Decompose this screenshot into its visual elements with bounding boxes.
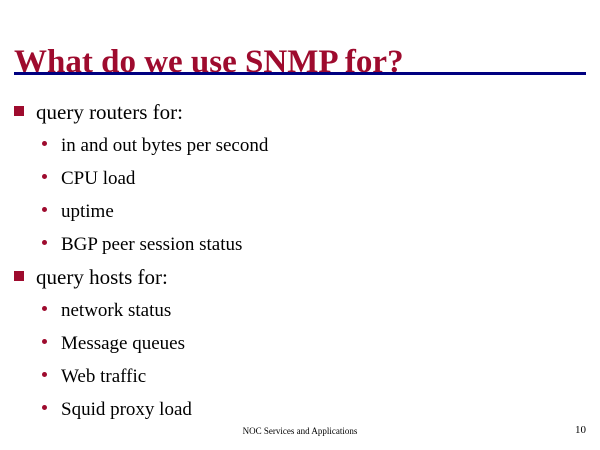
bullet-item-level1: query hosts for: bbox=[0, 261, 600, 294]
footer-title: NOC Services and Applications bbox=[0, 425, 600, 437]
round-bullet-icon bbox=[42, 372, 47, 377]
bullet-item-label: BGP peer session status bbox=[61, 228, 242, 261]
round-bullet-icon bbox=[42, 405, 47, 410]
round-bullet-icon bbox=[42, 141, 47, 146]
round-bullet-icon bbox=[42, 174, 47, 179]
slide-page-number: 10 bbox=[575, 424, 586, 437]
bullet-item-label: Squid proxy load bbox=[61, 393, 192, 426]
round-bullet-icon bbox=[42, 306, 47, 311]
bullet-item-label: uptime bbox=[61, 195, 114, 228]
bullet-item-label: CPU load bbox=[61, 162, 135, 195]
bullet-item-level2: CPU load bbox=[0, 162, 600, 195]
title-divider-rule bbox=[14, 72, 586, 75]
bullet-item-level1: query routers for: bbox=[0, 96, 600, 129]
bullet-item-level2: uptime bbox=[0, 195, 600, 228]
presentation-slide: What do we use SNMP for? query routers f… bbox=[0, 0, 600, 450]
square-bullet-icon bbox=[14, 271, 24, 281]
bullet-item-level2: Message queues bbox=[0, 327, 600, 360]
bullet-item-label: Message queues bbox=[61, 327, 185, 360]
bullet-item-level2: network status bbox=[0, 294, 600, 327]
bullet-item-label: query hosts for: bbox=[36, 261, 168, 294]
bullet-item-label: network status bbox=[61, 294, 171, 327]
bullet-item-level2: BGP peer session status bbox=[0, 228, 600, 261]
bullet-item-level2: Squid proxy load bbox=[0, 393, 600, 426]
bullet-item-label: Web traffic bbox=[61, 360, 146, 393]
round-bullet-icon bbox=[42, 339, 47, 344]
round-bullet-icon bbox=[42, 207, 47, 212]
bullet-item-label: in and out bytes per second bbox=[61, 129, 268, 162]
page-title: What do we use SNMP for? bbox=[14, 43, 586, 81]
bullet-item-label: query routers for: bbox=[36, 96, 183, 129]
bullet-list: query routers for:in and out bytes per s… bbox=[0, 96, 600, 426]
square-bullet-icon bbox=[14, 106, 24, 116]
bullet-item-level2: in and out bytes per second bbox=[0, 129, 600, 162]
round-bullet-icon bbox=[42, 240, 47, 245]
bullet-item-level2: Web traffic bbox=[0, 360, 600, 393]
